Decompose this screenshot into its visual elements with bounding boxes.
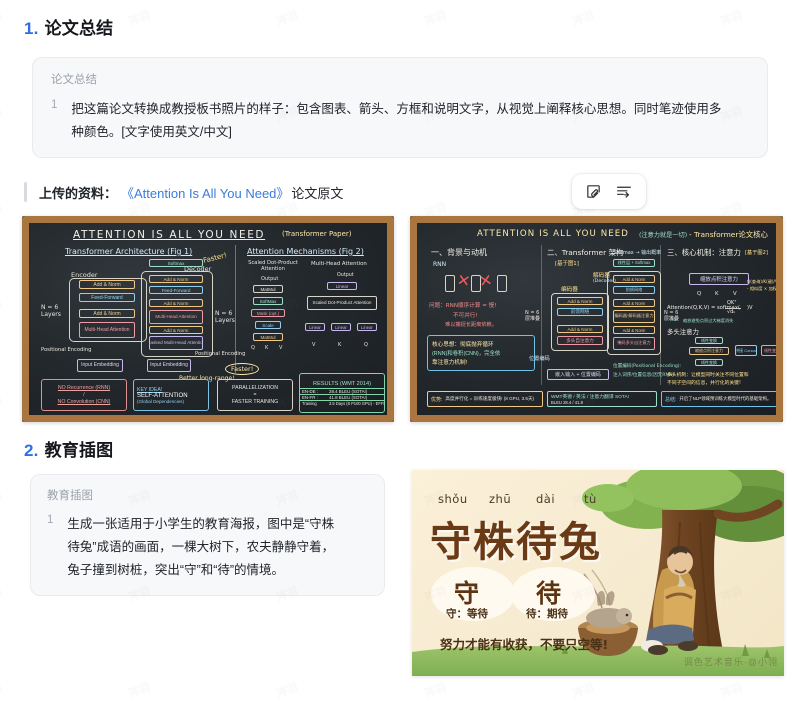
upload-row: 上传的资料： 《Attention Is All You Need》 论文原文 (24, 182, 343, 202)
watermark-text: 涔羽 (0, 295, 4, 318)
en-left-heading: Transformer Architecture (Fig 1) (65, 247, 192, 256)
cn-pos-enc-label: 位置编码 (529, 355, 550, 362)
en-mh-out: Output (337, 273, 354, 278)
section-2-title: 教育插图 (45, 436, 114, 461)
en-results-v-2: 3.5 Days (8 P100 GPU) - EFFICIENT (326, 401, 385, 406)
action-icon-card (572, 174, 646, 209)
cn-formula-note-1: 缩放避免点积过大梯度消失 (683, 318, 733, 324)
prompt-text-2: 生成一张适用于小学生的教育海报，图中是“守株待兔”成语的画面，一棵大树下，农夫静… (67, 513, 345, 582)
en-board-title: ATTENTION IS ALL YOU NEED (73, 229, 265, 241)
watermark-text: 涔羽 (0, 583, 4, 606)
watermark-text: 涔羽 (0, 391, 4, 414)
cn-formula-num: QKᵀ (727, 300, 736, 306)
poster-pinyin-3: tù (584, 492, 597, 506)
en-results-k-1: EN-FR : (300, 395, 326, 400)
cn-core-idea-2: 靠注意力机制! (432, 358, 467, 366)
cn-problem-2: 难以捕捉长距离依赖。 (445, 321, 497, 328)
watermark-text: 涔羽 (126, 7, 152, 30)
board-surface-cn: ATTENTION IS ALL YOU NEED (注意力就是一切) - Tr… (417, 223, 776, 415)
cn-sec3-sub: [基于图2] (745, 249, 768, 256)
watermark-text: 涔羽 (274, 7, 300, 30)
watermark-text: 涔羽 (0, 679, 4, 701)
section-2-number: 2. (24, 441, 39, 461)
cn-mh-0b: 线性变换 (695, 359, 723, 366)
section-1-number: 1. (24, 19, 39, 39)
cn-problem-1: 不可并行! (453, 311, 478, 319)
cn-sec3-heading: 三、核心机制：注意力 (667, 247, 741, 258)
en-mh-linear-1: Linear (331, 323, 351, 331)
upload-label: 上传的资料： (39, 183, 117, 202)
cn-pos-note-1: 注入词序/位置信息(因无RNN) (613, 372, 674, 378)
poster-pinyin-2: dài (536, 492, 555, 506)
en-scaled-q: Q (251, 345, 255, 351)
en-scaled-out: Output (261, 276, 278, 282)
watermark-text: 涔羽 (718, 7, 744, 30)
cn-mh-1: 缩放点积注意力 (689, 347, 729, 355)
cn-sec1-heading: 一、背景与动机 (431, 247, 487, 258)
poster-watermark: 调色艺术音乐·@小翎 (684, 655, 778, 668)
cn-dec-0: 线性层 + Softmax (613, 259, 655, 267)
cn-sec2-heading: 二、Transformer 架构 (547, 247, 623, 258)
en-scaled-heading: Scaled Dot-Product Attention (243, 261, 303, 273)
cn-mh-note-0: 多头机制：让模型同时关注不同位置和 (667, 371, 749, 378)
en-results-k-2: Training (300, 401, 326, 406)
poster-card-def-0: 守：等待 (446, 606, 488, 621)
attach-in-box-icon[interactable] (585, 183, 602, 200)
poster-card-char-0: 守 (454, 574, 479, 610)
en-parallel-eq: = (254, 392, 257, 398)
cn-bottom-card-0: 优势: 高度并行化 = 训练速度极快! (8 GPU, 3.5天) (427, 391, 543, 407)
cn-board-title-tail: - Transformer论文核心 (689, 229, 768, 240)
cn-problem-0: 问题：RNN顺序计算 = 慢! (429, 301, 497, 309)
en-board-title-note: (Transformer Paper) (282, 230, 352, 238)
en-faster-note: Faster! (202, 251, 227, 265)
cn-bottom-sub: BLEU 28.4 / 41.8 (551, 400, 583, 405)
en-mh-q: Q (364, 342, 368, 348)
cn-rnn-label: RNN (433, 261, 446, 268)
en-key-idea-sub: (Global Dependencies) (137, 399, 184, 404)
watermark-text: 涔羽 (0, 103, 4, 126)
cn-divider-1 (541, 245, 542, 385)
cn-multihead-heading: 多头注意力 (667, 327, 699, 336)
en-mh-linear-0: Linear (305, 323, 325, 331)
blackboard-image-english[interactable]: ATTENTION IS ALL YOU NEED (Transformer P… (22, 216, 394, 422)
en-parallel-box: PARALLELIZATION = FASTER TRAINING (217, 379, 293, 411)
watermark-text: 涔羽 (570, 7, 596, 30)
en-mh-k: K (338, 342, 341, 348)
cn-q: Q (697, 291, 701, 297)
en-positional-encoding-right: Positional Encoding (195, 352, 245, 358)
cn-decoder-group (607, 271, 661, 355)
cn-pos-note-0: 位置编码(Positional Encoding): (613, 363, 681, 369)
cn-sec2-sub: [基于图1] (555, 259, 579, 267)
board-surface-en: ATTENTION IS ALL YOU NEED (Transformer P… (29, 223, 387, 415)
watermark-text: 涔羽 (570, 679, 596, 701)
cn-formula-den: √dₖ (727, 309, 736, 315)
cn-bottom-card-2: 总结: 开启了NLP领域预训练大模型时代的基础架构。 (661, 391, 776, 407)
en-no-box: NO Recurrence (RNN) / NO Convolution (CN… (41, 379, 127, 411)
en-scaled-block-5: MatMul (253, 333, 283, 341)
en-parallel-1: PARALLELIZATION (232, 385, 278, 391)
en-results-title: RESULTS (WMT 2014) (300, 380, 384, 389)
en-faster-bubble: Faster! (225, 363, 259, 375)
prompt-index-1: 1 (51, 98, 57, 144)
en-decoder-group (141, 271, 213, 357)
en-slash: / (83, 392, 84, 398)
blackboard-image-chinese[interactable]: ATTENTION IS ALL YOU NEED (注意力就是一切) - Tr… (410, 216, 783, 422)
cn-rnn-cross-icon-2: ✕ (477, 270, 494, 291)
en-results-k-0: EN-DE : (300, 389, 326, 394)
en-results-v-1: 41.8 BLEU (SOTA!) (326, 395, 367, 400)
poster-card-char-1: 待 (536, 574, 561, 610)
watermark-text: 涔羽 (422, 679, 448, 701)
en-results-v-0: 28.4 BLEU (SOTA!) (326, 389, 367, 394)
en-multihead-heading: Multi-Head Attention (311, 261, 367, 267)
cn-mh-3: 线性变换 (761, 345, 776, 356)
cn-mh-2: 拼接 Concat (735, 345, 757, 356)
watermark-text: 涔羽 (718, 679, 744, 701)
en-positional-encoding: Positional Encoding (41, 348, 91, 354)
en-no-convolution: NO Convolution (CNN) (58, 399, 111, 405)
poster-idiom-title: 守株待兔 (430, 508, 602, 568)
poster-image-idiom[interactable]: shǒu zhū dài tù 守株待兔 守 待 守：等待 待：期待 努力才能有… (412, 470, 784, 676)
cn-encoder-group (551, 293, 609, 351)
cn-bottom-card-1: WMT英德 / 英法 / 注意力翻译 SOTA! BLEU 28.4 / 41.… (547, 391, 657, 407)
cn-v: V (733, 291, 737, 297)
en-scaled-block-3: Mask (opt.) (251, 309, 285, 317)
export-lines-arrow-icon[interactable] (615, 183, 633, 200)
en-scaled-block-1: MatMul (253, 285, 283, 293)
cn-bottom-k-0: 优势: (431, 396, 442, 403)
cn-core-idea-0: 核心思想：彻底抛弃循环 (432, 340, 494, 348)
cn-input-label: 嵌入输入 + 位置编码 (547, 369, 609, 380)
en-results-box: RESULTS (WMT 2014) EN-DE : 28.4 BLEU (SO… (299, 373, 385, 413)
en-mh-linear-2: Linear (357, 323, 377, 331)
page-root: 1. 论文总结 论文总结 1 把这篇论文转换成教授板书照片的样子：包含图表、箭头… (0, 0, 800, 676)
cn-softmax-note: Softmax → 输出概率 (613, 249, 661, 256)
poster-moral-text: 努力才能有收获，不要只空等! (440, 634, 608, 653)
upload-paper-link[interactable]: 《Attention Is All You Need》 (121, 183, 289, 202)
en-mh-scaled: Scaled Dot-Product Attention (307, 296, 377, 310)
watermark-text: 涔羽 (0, 199, 4, 222)
poster-pinyin-1: zhū (489, 492, 511, 506)
en-n-layers-left: N = 6 Layers (41, 305, 61, 318)
en-scaled-block-2: SoftMax (253, 297, 283, 305)
en-mh-linear: Linear (327, 282, 357, 290)
cn-qkv-note-0: Q(查询)/K(键)/V(值) (747, 279, 776, 285)
prompt-card-1: 论文总结 1 把这篇论文转换成教授板书照片的样子：包含图表、箭头、方框和说明文字… (32, 57, 768, 158)
watermark-text: 涔羽 (126, 679, 152, 701)
cn-formula-tail: )V (747, 305, 753, 311)
en-scaled-k: K (265, 345, 268, 351)
watermark-text: 涔羽 (274, 679, 300, 701)
en-dec-block-0: Softmax (149, 259, 203, 267)
cn-bottom-v-1: WMT英德 / 英法 / 注意力翻译 SOTA! (551, 393, 629, 400)
prompt-label-2: 教育插图 (47, 488, 368, 504)
cn-rnn-node-0 (445, 275, 455, 292)
cn-bottom-v-0: 高度并行化 = 训练速度极快! (8 GPU, 3.5天) (445, 396, 534, 402)
cn-encoder-label: 编码器 (561, 285, 578, 293)
en-encoder-group (69, 278, 147, 342)
cn-mh-0: 线性变换 (695, 337, 723, 344)
cn-formula-note-0: √dₖ (669, 318, 677, 323)
section-2-heading: 2. 教育插图 (24, 436, 113, 461)
en-key-idea-box: KEY IDEA! SELF-ATTENTION (Global Depende… (133, 379, 209, 411)
prompt-index-2: 1 (47, 513, 53, 582)
cn-mh-note-1: 不同子空间的信息，并行化的关键! (667, 379, 741, 386)
cn-scaled-box: 缩放点积注意力 (689, 273, 749, 285)
en-scaled-block-4: Scale (255, 321, 281, 329)
prompt-card-2: 教育插图 1 生成一张适用于小学生的教育海报，图中是“守株待兔”成语的画面，一棵… (30, 474, 385, 596)
en-right-heading: Attention Mechanisms (Fig 2) (247, 247, 364, 256)
upload-accent-bar (24, 182, 27, 202)
section-1-title: 论文总结 (45, 14, 114, 39)
cn-rnn-cross-icon: ✕ (455, 270, 472, 291)
en-scaled-v: V (279, 345, 282, 351)
cn-qkv-note-1: - 相似度 × 加权 (747, 286, 776, 292)
section-1-heading: 1. 论文总结 (24, 14, 113, 39)
cn-k: K (715, 291, 719, 297)
cn-bottom-v-2: 开启了NLP领域预训练大模型时代的基础架构。 (679, 396, 771, 402)
cn-board-title: ATTENTION IS ALL YOU NEED (477, 229, 629, 239)
cn-n6-left: N = 6 层堆叠 (525, 311, 540, 322)
en-output-embedding: Input Embedding (147, 359, 191, 372)
upload-suffix: 论文原文 (291, 183, 343, 202)
cn-core-idea-1: (RNN)和卷积(CNN)，完全依 (432, 349, 500, 357)
watermark-text: 涔羽 (422, 7, 448, 30)
en-mh-v: V (312, 342, 315, 348)
cn-rnn-node-2 (497, 275, 507, 292)
en-no-recurrence: NO Recurrence (RNN) (58, 385, 110, 391)
en-n-layers-right: N = 6 Layers (215, 311, 235, 324)
poster-pinyin-0: shǒu (438, 492, 468, 506)
prompt-text-1: 把这篇论文转换成教授板书照片的样子：包含图表、箭头、方框和说明文字，从视觉上阐释… (71, 98, 726, 144)
en-parallel-2: FASTER TRAINING (232, 399, 278, 405)
watermark-text: 涔羽 (0, 7, 4, 30)
poster-card-def-1: 待：期待 (526, 606, 568, 621)
watermark-text: 涔羽 (0, 487, 4, 510)
cn-bottom-k-2: 总结: (665, 396, 676, 403)
en-input-embedding: Input Embedding (77, 359, 123, 372)
prompt-label-1: 论文总结 (51, 72, 749, 88)
cn-board-title-cn: (注意力就是一切) (639, 230, 687, 239)
cn-core-idea-box: 核心思想：彻底抛弃循环 (RNN)和卷积(CNN)，完全依 靠注意力机制! (427, 335, 535, 371)
